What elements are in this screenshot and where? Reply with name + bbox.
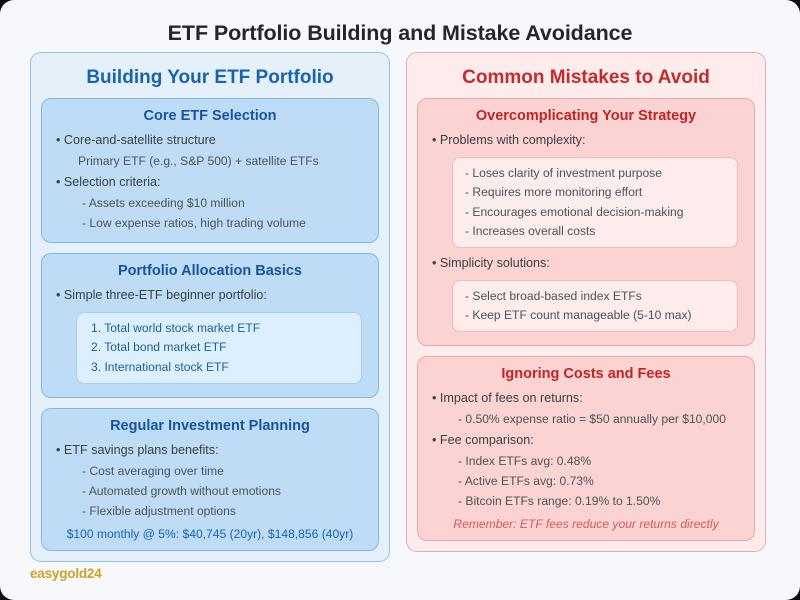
list-item: - Requires more monitoring effort — [461, 183, 729, 203]
bullet-selection-criteria: • Selection criteria: — [52, 172, 368, 194]
sub-primary-etf: Primary ETF (e.g., S&P 500) + satellite … — [52, 152, 368, 172]
list-item: - Keep ETF count manageable (5-10 max) — [461, 306, 729, 326]
list-item: - Encourages emotional decision-making — [461, 202, 729, 222]
panel-heading-right: Common Mistakes to Avoid — [417, 62, 755, 98]
card-overcomplicating-strategy: Overcomplicating Your Strategy • Problem… — [417, 98, 755, 346]
brand-logo: easygold24 — [30, 566, 102, 581]
list-item: 2. Total bond market ETF — [85, 338, 353, 358]
list-item: 1. Total world stock market ETF — [85, 318, 353, 338]
bullet-problems-with-complexity: • Problems with complexity: — [428, 130, 744, 152]
card-regular-investment-planning: Regular Investment Planning • ETF saving… — [41, 408, 379, 551]
card-heading-ignoring-costs: Ignoring Costs and Fees — [428, 364, 744, 388]
card-ignoring-costs-and-fees: Ignoring Costs and Fees • Impact of fees… — [417, 356, 755, 541]
page-title: ETF Portfolio Building and Mistake Avoid… — [0, 0, 800, 52]
sub-bitcoin-etf-range: - Bitcoin ETFs range: 0.19% to 1.50% — [428, 492, 744, 512]
sub-expense-ratio-example: - 0.50% expense ratio = $50 annually per… — [428, 410, 744, 430]
bullet-savings-plan-benefits: • ETF savings plans benefits: — [52, 440, 368, 462]
list-item: - Loses clarity of investment purpose — [461, 163, 729, 183]
inner-box-complexity-problems: - Loses clarity of investment purpose - … — [452, 157, 738, 248]
footnote-remember-fees: Remember: ETF fees reduce your returns d… — [428, 512, 744, 532]
panel-heading-left: Building Your ETF Portfolio — [41, 62, 379, 98]
footnote-savings-projection: $100 monthly @ 5%: $40,745 (20yr), $148,… — [52, 522, 368, 542]
sub-low-expense-ratios: - Low expense ratios, high trading volum… — [52, 214, 368, 234]
list-item: - Select broad-based index ETFs — [461, 286, 729, 306]
bullet-impact-of-fees: • Impact of fees on returns: — [428, 388, 744, 410]
sub-active-etf-avg: - Active ETFs avg: 0.73% — [428, 472, 744, 492]
inner-box-three-etf-list: 1. Total world stock market ETF 2. Total… — [76, 312, 362, 384]
sub-flexible-adjustment: - Flexible adjustment options — [52, 502, 368, 522]
bullet-simplicity-solutions: • Simplicity solutions: — [428, 253, 744, 275]
card-heading-regular-investment: Regular Investment Planning — [52, 416, 368, 440]
card-portfolio-allocation-basics: Portfolio Allocation Basics • Simple thr… — [41, 253, 379, 398]
sub-automated-growth: - Automated growth without emotions — [52, 482, 368, 502]
sub-assets-exceeding: - Assets exceeding $10 million — [52, 194, 368, 214]
sub-index-etf-avg: - Index ETFs avg: 0.48% — [428, 452, 744, 472]
card-heading-portfolio-allocation: Portfolio Allocation Basics — [52, 261, 368, 285]
panel-columns: Building Your ETF Portfolio Core ETF Sel… — [0, 52, 800, 562]
sub-cost-averaging: - Cost averaging over time — [52, 462, 368, 482]
list-item: - Increases overall costs — [461, 222, 729, 242]
bullet-fee-comparison: • Fee comparison: — [428, 430, 744, 452]
inner-box-simplicity-solutions: - Select broad-based index ETFs - Keep E… — [452, 280, 738, 332]
list-item: 3. International stock ETF — [85, 357, 353, 377]
card-core-etf-selection: Core ETF Selection • Core-and-satellite … — [41, 98, 379, 243]
bullet-core-and-satellite: • Core-and-satellite structure — [52, 130, 368, 152]
bullet-three-etf-portfolio: • Simple three-ETF beginner portfolio: — [52, 285, 368, 307]
card-heading-core-etf-selection: Core ETF Selection — [52, 106, 368, 130]
card-heading-overcomplicating: Overcomplicating Your Strategy — [428, 106, 744, 130]
infographic-page: ETF Portfolio Building and Mistake Avoid… — [0, 0, 800, 600]
panel-common-mistakes: Common Mistakes to Avoid Overcomplicatin… — [406, 52, 766, 552]
panel-building-etf-portfolio: Building Your ETF Portfolio Core ETF Sel… — [30, 52, 390, 562]
